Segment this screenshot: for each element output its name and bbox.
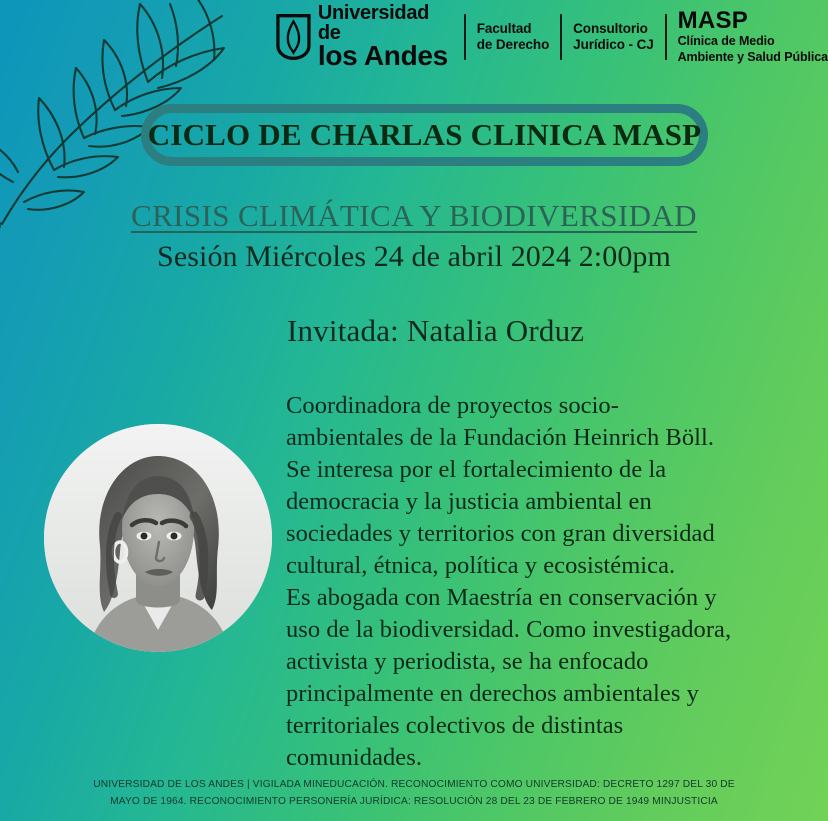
uniandes-line2: los Andes: [318, 42, 453, 69]
legal-line-1: UNIVERSIDAD DE LOS ANDES | VIGILADA MINE…: [0, 777, 828, 794]
bio-line: uso de la biodiversidad. Como investigad…: [286, 614, 806, 646]
uniandes-logo: Universidad de los Andes: [276, 4, 453, 70]
header-block-consultorio: Consultorio Jurídico - CJ: [573, 21, 653, 54]
bio-line: activista y periodista, se ha enfocado: [286, 646, 806, 678]
portrait-image: [44, 424, 272, 652]
bio-line: Coordinadora de proyectos socio-: [286, 390, 806, 422]
event-poster: Universidad de los Andes Facultad de Der…: [0, 0, 828, 821]
bio-line: Es abogada con Maestría en conservación …: [286, 582, 806, 614]
banner-title-text: CICLO DE CHARLAS CLINICA MASP: [148, 117, 702, 153]
consultorio-line2: Jurídico - CJ: [573, 37, 653, 53]
guest-name: Invitada: Natalia Orduz: [287, 313, 584, 349]
header-divider-1: [464, 14, 466, 60]
header-block-masp: MASP Clínica de Medio Ambiente y Salud P…: [678, 9, 828, 65]
bio-line: cultural, étnica, política y ecosistémic…: [286, 550, 806, 582]
legal-footer: UNIVERSIDAD DE LOS ANDES | VIGILADA MINE…: [0, 777, 828, 811]
facultad-line1: Facultad: [477, 21, 550, 37]
bio-line: comunidades.: [286, 742, 806, 774]
institution-header: Universidad de los Andes Facultad de Der…: [276, 8, 828, 66]
speaker-portrait: [44, 424, 272, 652]
bio-line: Se interesa por el fortalecimiento de la: [286, 454, 806, 486]
uniandes-line1: Universidad de: [318, 4, 453, 43]
title-banner: CICLO DE CHARLAS CLINICA MASP: [141, 104, 708, 166]
uniandes-wordmark: Universidad de los Andes: [318, 4, 453, 70]
header-divider-2: [560, 14, 562, 60]
legal-line-2: MAYO DE 1964. RECONOCIMIENTO PERSONERÍA …: [0, 794, 828, 811]
facultad-line2: de Derecho: [477, 37, 550, 53]
bio-line: territoriales colectivos de distintas: [286, 710, 806, 742]
consultorio-line1: Consultorio: [573, 21, 653, 37]
masp-subtitle-line1: Clínica de Medio: [678, 34, 828, 49]
session-datetime: Sesión Miércoles 24 de abril 2024 2:00pm: [0, 240, 828, 274]
uniandes-shield-icon: [276, 13, 311, 61]
masp-title: MASP: [678, 9, 828, 33]
masp-subtitle-line2: Ambiente y Salud Pública: [678, 50, 828, 65]
topic-title: CRISIS CLIMÁTICA Y BIODIVERSIDAD: [131, 198, 697, 234]
bio-line: democracia y la justicia ambiental en: [286, 486, 806, 518]
bio-line: ambientales de la Fundación Heinrich Böl…: [286, 422, 806, 454]
bio-line: principalmente en derechos ambientales y: [286, 678, 806, 710]
subtitle-block: CRISIS CLIMÁTICA Y BIODIVERSIDAD Sesión …: [0, 198, 828, 274]
header-divider-3: [665, 14, 667, 60]
header-block-facultad: Facultad de Derecho: [477, 21, 550, 54]
speaker-bio: Coordinadora de proyectos socio- ambient…: [286, 390, 806, 774]
bio-line: sociedades y territorios con gran divers…: [286, 518, 806, 550]
